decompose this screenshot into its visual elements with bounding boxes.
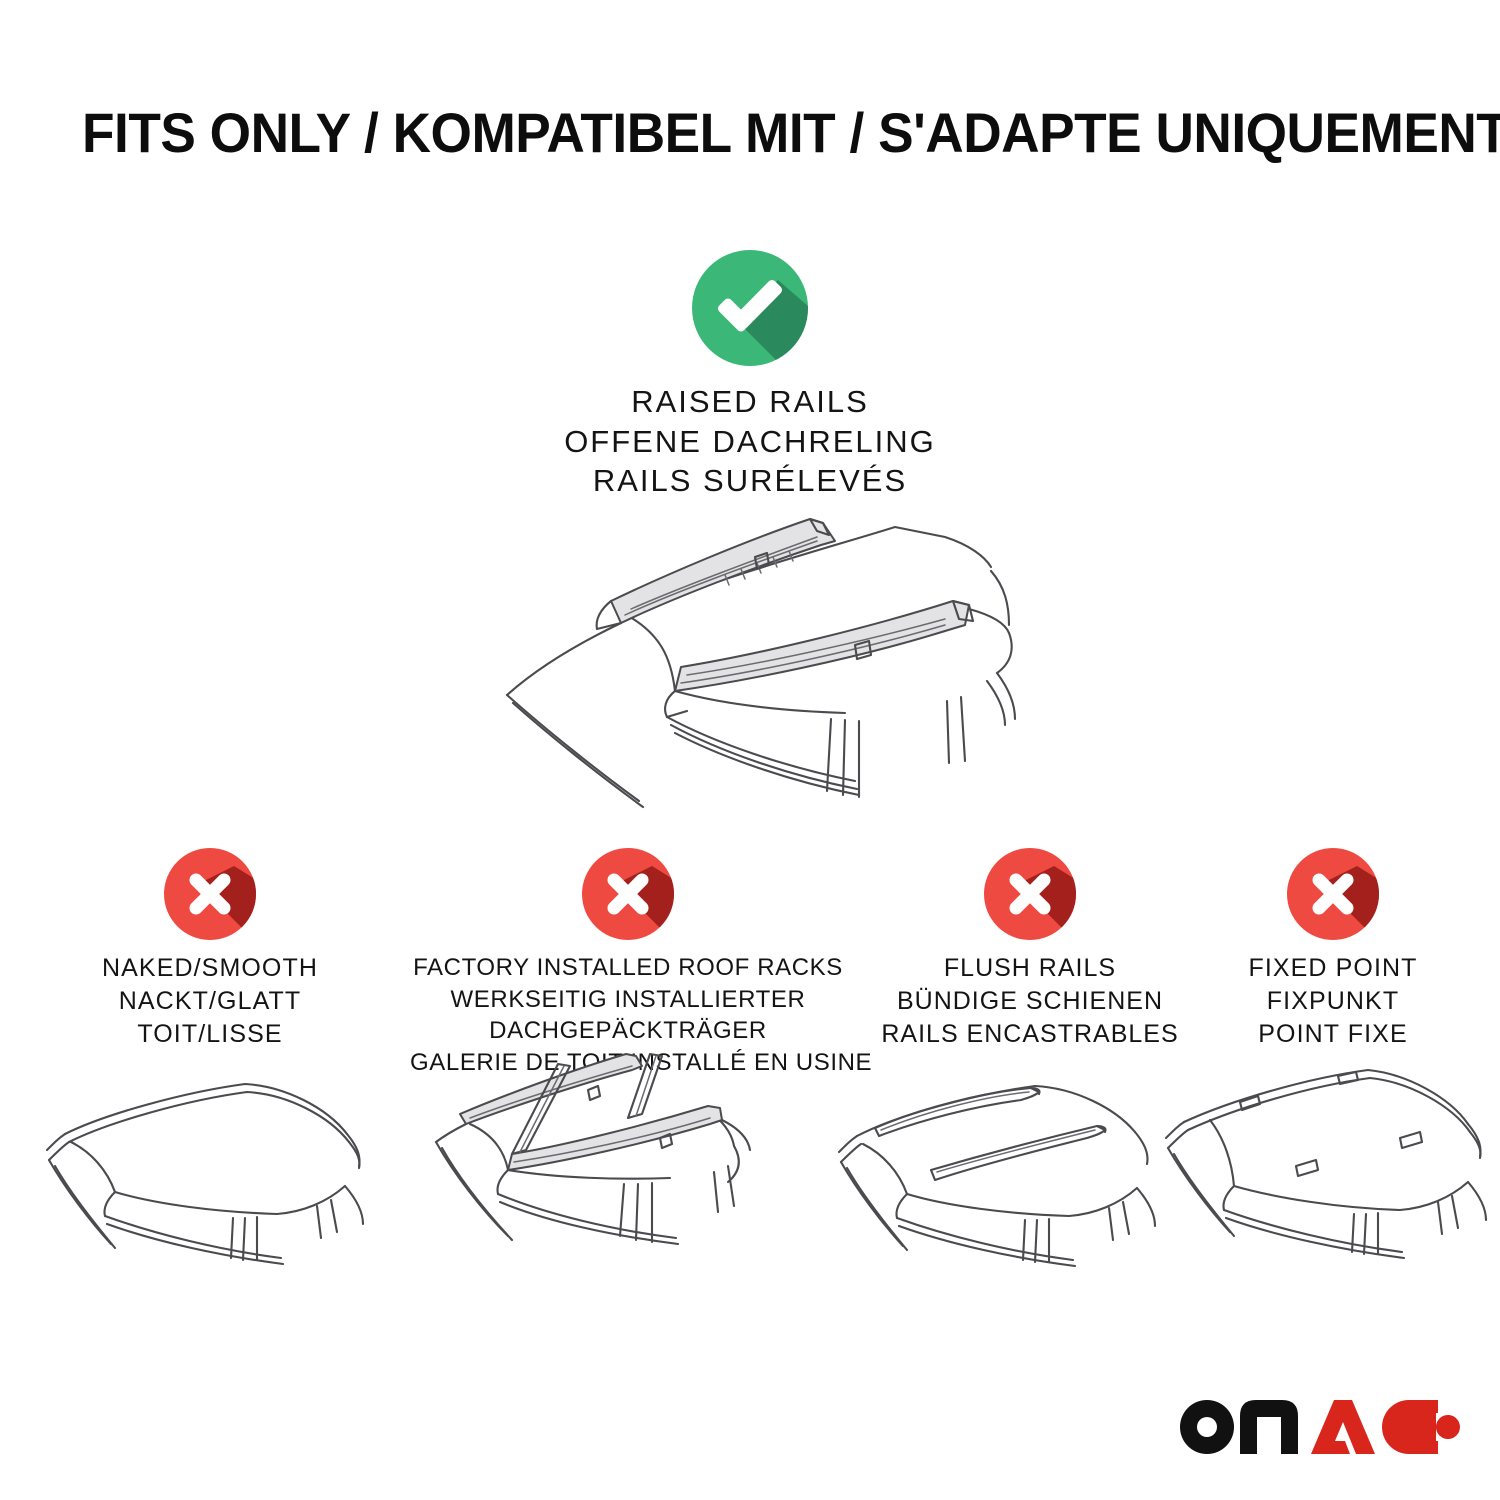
car-roof-fixed-points-illustration	[1162, 1062, 1500, 1277]
x-glyph	[164, 848, 256, 940]
incompatible-column-fixed-point: FIXED POINT FIXPUNKT POINT FIXE	[1200, 848, 1466, 1051]
compatible-label: RAISED RAILS OFFENE DACHRELING RAILS SUR…	[415, 382, 1085, 501]
x-circle-icon	[582, 848, 674, 940]
compatible-section: RAISED RAILS OFFENE DACHRELING RAILS SUR…	[415, 250, 1085, 501]
incompatible-column-naked-smooth: NAKED/SMOOTH NACKT/GLATT TOIT/LISSE	[40, 848, 380, 1051]
checkmark-glyph	[692, 250, 808, 366]
car-roof-naked-smooth-illustration	[45, 1062, 385, 1277]
x-glyph	[1287, 848, 1379, 940]
incompatible-label-fixed-point: FIXED POINT FIXPUNKT POINT FIXE	[1200, 952, 1466, 1051]
label-line-en: FLUSH RAILS	[860, 952, 1200, 985]
incompatible-column-flush-rails: FLUSH RAILS BÜNDIGE SCHIENEN RAILS ENCAS…	[860, 848, 1200, 1051]
incompatible-label-naked-smooth: NAKED/SMOOTH NACKT/GLATT TOIT/LISSE	[40, 952, 380, 1051]
label-line-fr: RAILS ENCASTRABLES	[860, 1018, 1200, 1051]
car-roof-raised-rails-illustration	[425, 505, 1085, 825]
label-line-en: FACTORY INSTALLED ROOF RACKS	[410, 952, 846, 984]
page-title: FITS ONLY / KOMPATIBEL MIT / S'ADAPTE UN…	[82, 104, 1355, 163]
omac-logo	[1178, 1398, 1438, 1454]
compatible-label-line-de: OFFENE DACHRELING	[415, 422, 1085, 462]
incompatible-label-flush-rails: FLUSH RAILS BÜNDIGE SCHIENEN RAILS ENCAS…	[860, 952, 1200, 1051]
x-circle-icon	[1287, 848, 1379, 940]
label-line-de-2: DACHGEPÄCKTRÄGER	[410, 1015, 846, 1047]
incompatible-column-factory-racks: FACTORY INSTALLED ROOF RACKS WERKSEITIG …	[410, 848, 846, 1079]
label-line-en: FIXED POINT	[1200, 952, 1466, 985]
compatible-label-line-en: RAISED RAILS	[415, 382, 1085, 422]
car-roof-flush-rails-illustration	[835, 1062, 1173, 1277]
x-glyph	[582, 848, 674, 940]
check-circle-icon	[692, 250, 808, 366]
label-line-de: BÜNDIGE SCHIENEN	[860, 985, 1200, 1018]
compatible-label-line-fr: RAILS SURÉLEVÉS	[415, 461, 1085, 501]
label-line-de: FIXPUNKT	[1200, 985, 1466, 1018]
label-line-de: NACKT/GLATT	[40, 985, 380, 1018]
label-line-de-1: WERKSEITIG INSTALLIERTER	[410, 984, 846, 1016]
x-circle-icon	[164, 848, 256, 940]
label-line-en: NAKED/SMOOTH	[40, 952, 380, 985]
car-roof-factory-crossbars-illustration	[408, 1062, 766, 1277]
label-line-fr: POINT FIXE	[1200, 1018, 1466, 1051]
x-glyph	[984, 848, 1076, 940]
x-circle-icon	[984, 848, 1076, 940]
label-line-fr: TOIT/LISSE	[40, 1018, 380, 1051]
